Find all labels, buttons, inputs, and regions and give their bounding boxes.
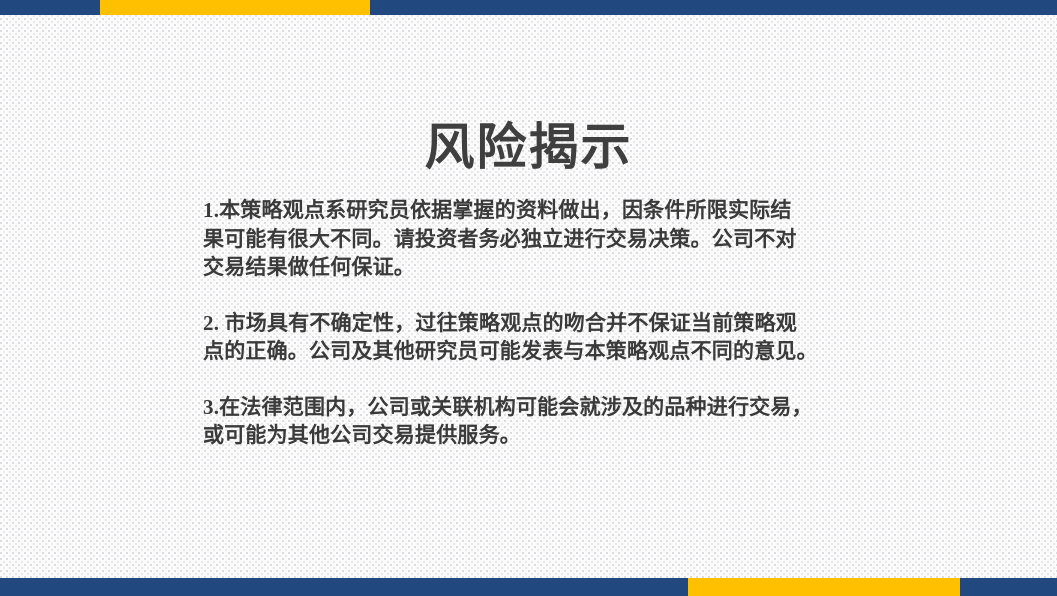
page-title: 风险揭示 — [0, 119, 1057, 177]
paragraph-1-line-2: 果可能有很大不同。请投资者务必独立进行交易决策。公司不对 — [203, 225, 879, 254]
bottom-bar-segment-blue-right — [960, 578, 1057, 596]
paragraph-3-line-2: 或可能为其他公司交易提供服务。 — [203, 421, 879, 450]
top-bar-segment-yellow-middle — [100, 0, 370, 15]
paragraph-1: 1.本策略观点系研究员依据掌握的资料做出，因条件所限实际结 果可能有很大不同。请… — [203, 196, 879, 282]
paragraph-2: 2. 市场具有不确定性，过往策略观点的吻合并不保证当前策略观 点的正确。公司及其… — [203, 309, 879, 366]
bottom-decorative-bar — [0, 578, 1057, 596]
paragraph-3: 3.在法律范围内，公司或关联机构可能会就涉及的品种进行交易， 或可能为其他公司交… — [203, 393, 879, 450]
risk-disclosure-body: 1.本策略观点系研究员依据掌握的资料做出，因条件所限实际结 果可能有很大不同。请… — [203, 196, 879, 450]
top-decorative-bar — [0, 0, 1057, 15]
bottom-bar-segment-blue-left — [0, 578, 688, 596]
bottom-bar-segment-yellow-middle — [688, 578, 960, 596]
paragraph-3-line-1: 3.在法律范围内，公司或关联机构可能会就涉及的品种进行交易， — [203, 393, 879, 422]
top-bar-segment-blue-left — [0, 0, 100, 15]
paragraph-1-line-3: 交易结果做任何保证。 — [203, 253, 879, 282]
paragraph-2-line-2: 点的正确。公司及其他研究员可能发表与本策略观点不同的意见。 — [203, 337, 879, 366]
paragraph-1-line-1: 1.本策略观点系研究员依据掌握的资料做出，因条件所限实际结 — [203, 196, 879, 225]
slide-canvas: 风险揭示 1.本策略观点系研究员依据掌握的资料做出，因条件所限实际结 果可能有很… — [0, 0, 1057, 596]
top-bar-segment-blue-right — [370, 0, 1057, 15]
paragraph-2-line-1: 2. 市场具有不确定性，过往策略观点的吻合并不保证当前策略观 — [203, 309, 879, 338]
